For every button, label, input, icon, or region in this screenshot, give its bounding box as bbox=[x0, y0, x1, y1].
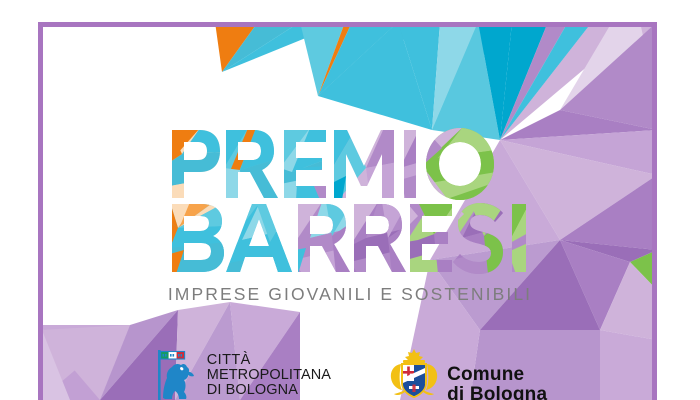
logo-comune-text: Comune di Bologna bbox=[447, 348, 547, 400]
logo-cb-line2: di Bologna bbox=[447, 385, 547, 400]
logo-citta-metropolitana-text: CITTÀ METROPOLITANA DI BOLOGNA bbox=[207, 348, 331, 397]
wordmark-barresi bbox=[170, 202, 530, 274]
logo-cm-line3: DI BOLOGNA bbox=[207, 383, 331, 398]
wordmark-premio bbox=[170, 128, 530, 200]
logo-cb-line1: Comune bbox=[447, 365, 547, 385]
lion-flag-emblem-icon bbox=[153, 348, 201, 400]
logo-cm-line1: CITTÀ bbox=[207, 353, 331, 368]
logo-citta-metropolitana: CITTÀ METROPOLITANA DI BOLOGNA bbox=[153, 348, 331, 400]
tagline: IMPRESE GIOVANILI E SOSTENIBILI bbox=[0, 284, 700, 305]
poster-canvas: IMPRESE GIOVANILI E SOSTENIBILI bbox=[0, 0, 700, 400]
logo-cm-line2: METROPOLITANA bbox=[207, 368, 331, 383]
logo-comune-di-bologna: Comune di Bologna bbox=[387, 348, 547, 400]
title-block: IMPRESE GIOVANILI E SOSTENIBILI bbox=[0, 128, 700, 305]
logo-row: CITTÀ METROPOLITANA DI BOLOGNA bbox=[0, 348, 700, 400]
coat-of-arms-emblem-icon bbox=[387, 348, 441, 400]
